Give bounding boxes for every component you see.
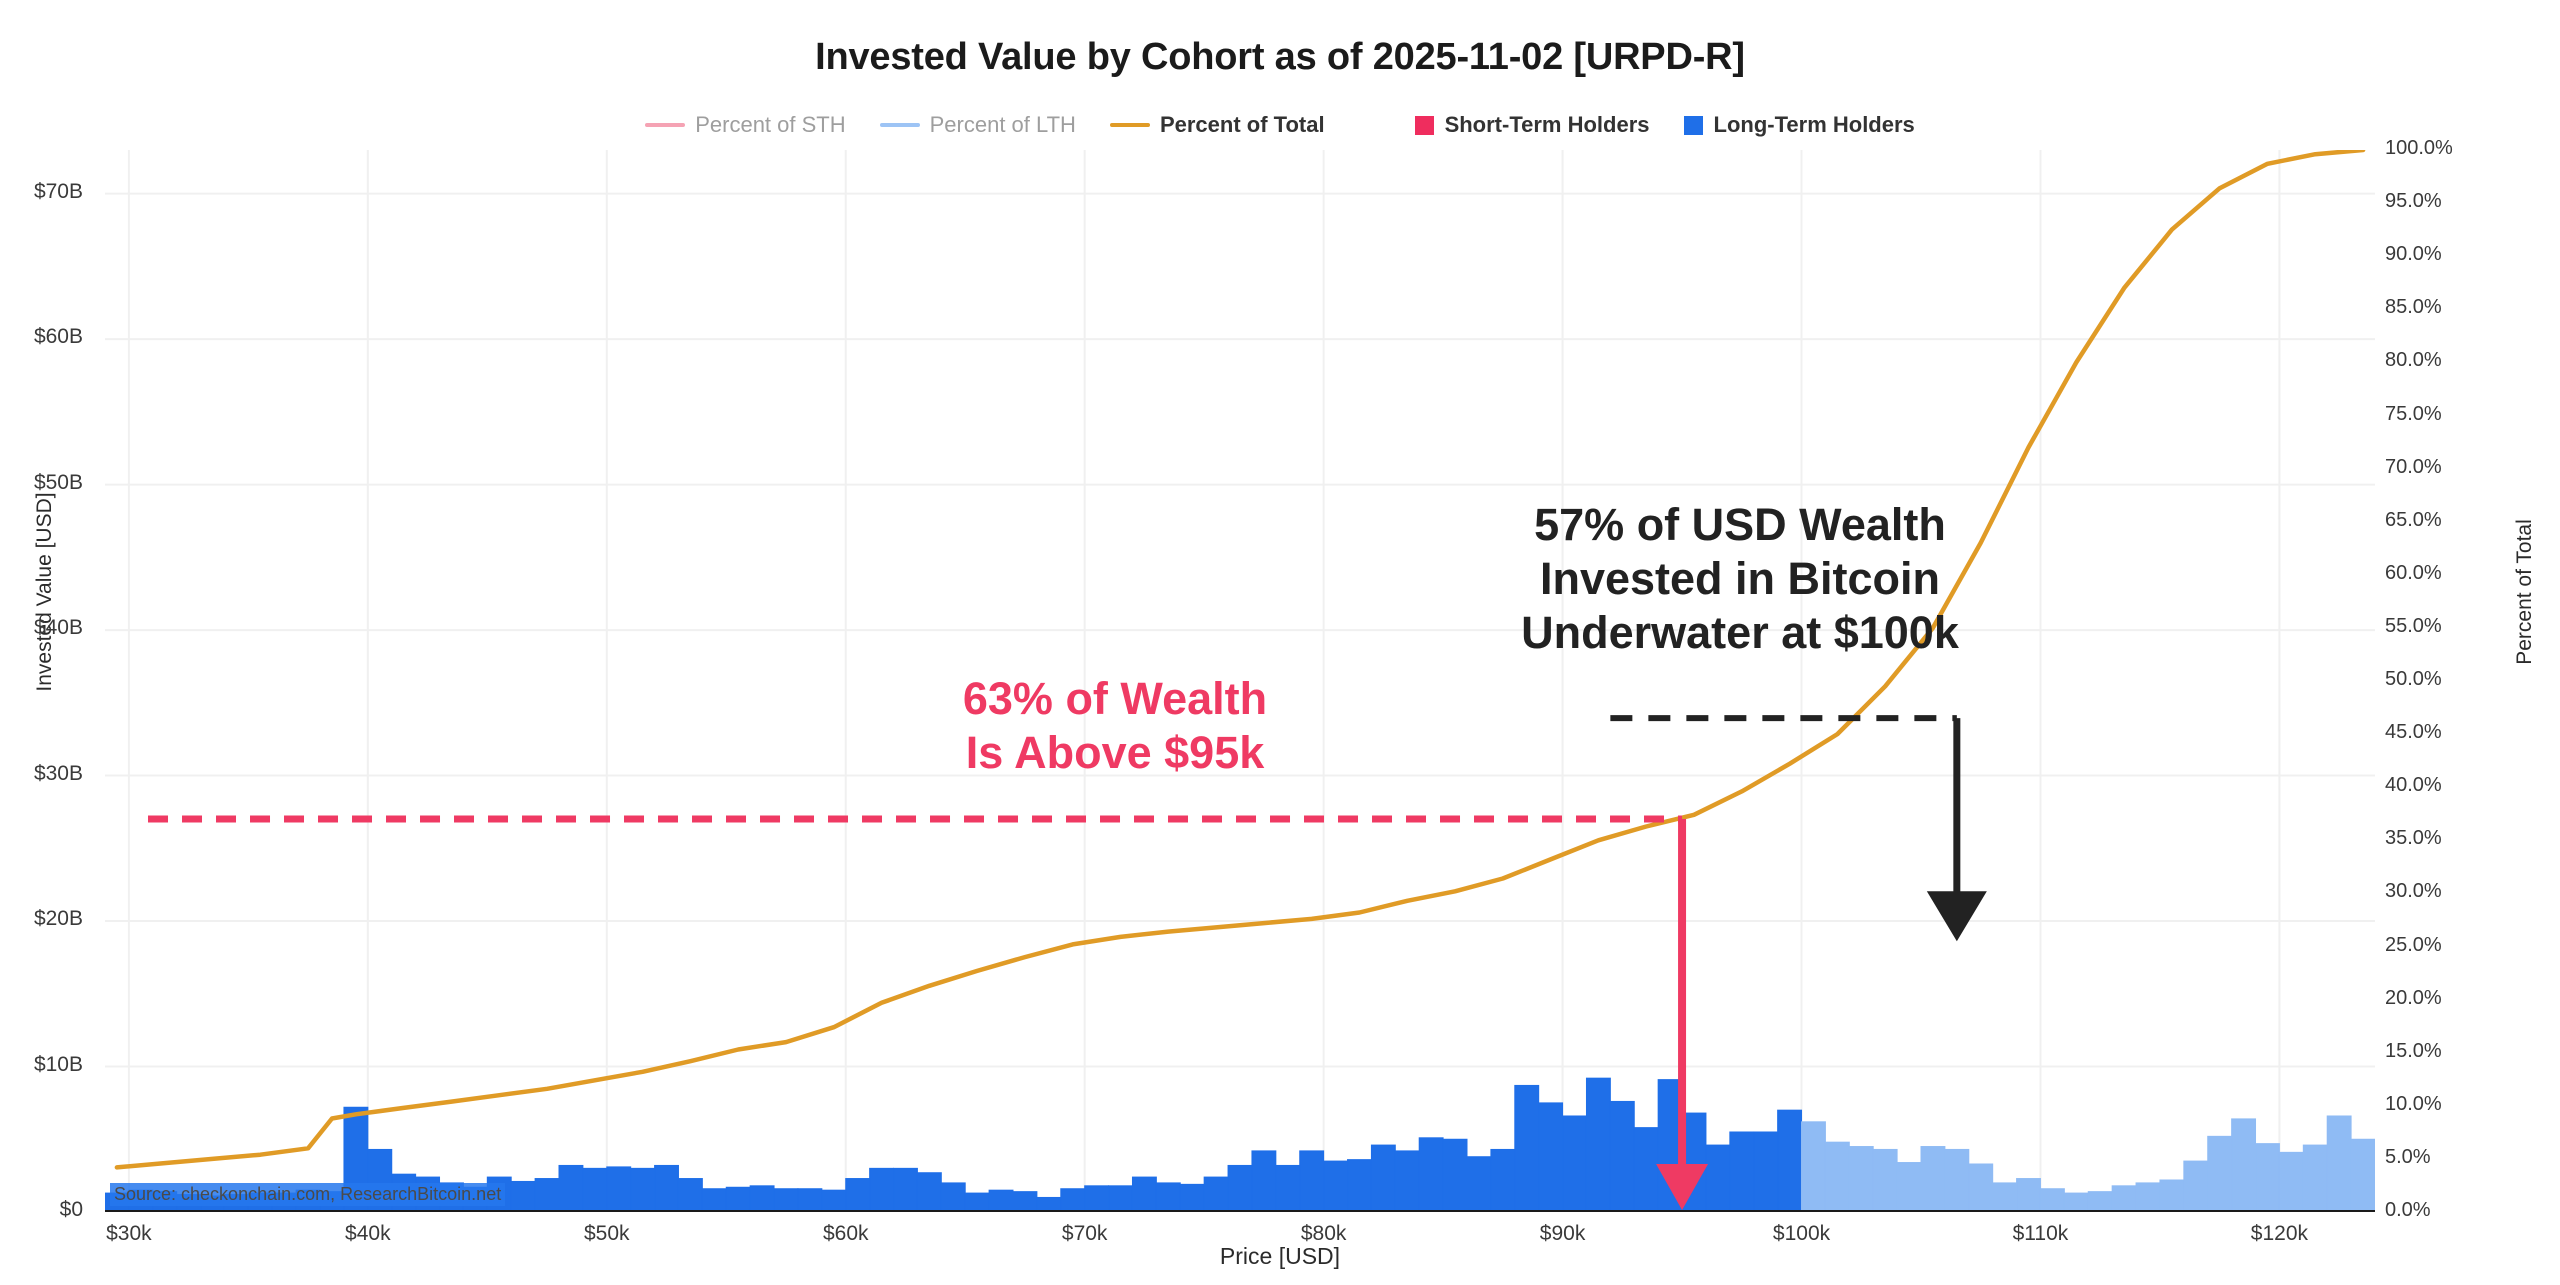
bar-long-term-holders [511,1181,535,1212]
legend-swatch-short-term-holders [1415,116,1434,135]
bar-long-term-holders [1348,1160,1372,1212]
y-tick-right: 85.0% [2385,296,2442,319]
bar-long-term-holders [1156,1183,1180,1212]
x-tick: $30k [106,1222,152,1246]
bar-long-term-holders [2208,1136,2232,1212]
bar-long-term-holders [2279,1152,2303,1212]
annotation-underwater-line-1: 57% of USD Wealth [1430,498,2050,552]
y-tick-right: 15.0% [2385,1040,2442,1063]
bar-long-term-holders [1969,1164,1993,1212]
bar-long-term-holders [989,1190,1013,1212]
legend-item-percent-total[interactable]: Percent of Total [1110,112,1325,138]
bar-long-term-holders [1395,1151,1419,1212]
y-tick-right: 65.0% [2385,509,2442,532]
bar-long-term-holders [2040,1189,2064,1212]
y-tick-right: 35.0% [2385,827,2442,850]
y-axis-label-right: Percent of Total [2513,482,2537,702]
bar-long-term-holders [2112,1186,2136,1212]
bar-long-term-holders [1491,1149,1515,1212]
bar-long-term-holders [1324,1161,1348,1212]
legend-swatch-group: Short-Term Holders Long-Term Holders [1415,112,1915,138]
legend-line-group: Percent of STH Percent of LTH Percent of… [645,112,1324,138]
bar-long-term-holders [631,1168,655,1212]
y-tick-left: $20B [34,907,83,931]
y-tick-left: $0 [60,1198,83,1222]
bar-long-term-holders [1419,1138,1443,1212]
bar-long-term-holders [535,1179,559,1212]
x-tick: $110k [2013,1222,2069,1246]
bar-long-term-holders [2136,1183,2160,1212]
bar-long-term-holders [750,1186,774,1212]
bar-long-term-holders [846,1179,870,1212]
annotation-underwater-line-2: Invested in Bitcoin [1430,552,2050,606]
bar-long-term-holders [1586,1078,1610,1212]
bar-long-term-holders [702,1189,726,1212]
bar-long-term-holders [1132,1177,1156,1212]
source-note: Source: checkonchain.com, ResearchBitcoi… [110,1183,505,1206]
bar-long-term-holders [1563,1116,1587,1212]
x-axis-label: Price [USD] [0,1243,2560,1270]
bar-long-term-holders [1539,1103,1563,1212]
bar-long-term-holders [1061,1189,1085,1212]
y-tick-left: $70B [34,180,83,204]
bar-long-term-holders [1013,1192,1037,1212]
bar-long-term-holders [1706,1145,1730,1212]
y-tick-left: $50B [34,471,83,495]
bar-long-term-holders [607,1167,631,1212]
bar-long-term-holders [1825,1142,1849,1212]
x-tick: $90k [1540,1222,1586,1246]
bar-long-term-holders [1037,1197,1061,1212]
y-tick-left: $10B [34,1053,83,1077]
y-tick-right: 95.0% [2385,190,2442,213]
bar-long-term-holders [1252,1151,1276,1212]
y-tick-left: $60B [34,325,83,349]
bar-long-term-holders [1778,1110,1802,1212]
y-tick-left: $30B [34,762,83,786]
x-tick: $60k [823,1222,869,1246]
bar-long-term-holders [1228,1165,1252,1212]
bar-long-term-holders [2232,1119,2256,1212]
bar-long-term-holders [774,1189,798,1212]
annotation-above-95k-line-1: 63% of Wealth [880,672,1350,726]
bar-long-term-holders [2088,1192,2112,1212]
x-tick: $50k [584,1222,630,1246]
bar-long-term-holders [2064,1193,2088,1212]
bar-long-term-holders [1300,1151,1324,1212]
bar-long-term-holders [798,1189,822,1212]
y-tick-right: 60.0% [2385,562,2442,585]
bar-long-term-holders [2351,1139,2375,1212]
y-tick-right: 20.0% [2385,987,2442,1010]
bar-long-term-holders [2160,1180,2184,1212]
y-tick-right: 100.0% [2385,137,2453,160]
y-tick-right: 45.0% [2385,721,2442,744]
bar-long-term-holders [941,1183,965,1212]
legend-line-swatch-percent-total [1110,123,1150,127]
bar-long-term-holders [2327,1116,2351,1212]
legend-item-short-term-holders[interactable]: Short-Term Holders [1415,112,1650,138]
annotation-underwater: 57% of USD Wealth Invested in Bitcoin Un… [1430,498,2050,660]
bar-long-term-holders [559,1165,583,1212]
legend-item-percent-lth[interactable]: Percent of LTH [880,112,1076,138]
arrow-head-underwater [1927,891,1987,941]
y-tick-right: 90.0% [2385,243,2442,266]
legend-swatch-long-term-holders [1684,116,1703,135]
legend-label-short-term-holders: Short-Term Holders [1445,112,1650,138]
page-title: Invested Value by Cohort as of 2025-11-0… [0,36,2560,79]
bar-long-term-holders [1109,1186,1133,1212]
legend-item-percent-sth[interactable]: Percent of STH [645,112,845,138]
x-tick: $120k [2251,1222,2308,1246]
legend-label-percent-total: Percent of Total [1160,112,1325,138]
y-tick-right: 0.0% [2385,1199,2431,1222]
bar-long-term-holders [1204,1177,1228,1212]
bar-long-term-holders [1849,1147,1873,1212]
y-tick-right: 55.0% [2385,615,2442,638]
legend-label-percent-sth: Percent of STH [695,112,845,138]
bar-long-term-holders [1610,1101,1634,1212]
bar-long-term-holders [2017,1179,2041,1212]
y-tick-right: 10.0% [2385,1093,2442,1116]
y-tick-right: 50.0% [2385,668,2442,691]
annotation-above-95k-line-2: Is Above $95k [880,726,1350,780]
bar-long-term-holders [870,1168,894,1212]
chart-root: Invested Value by Cohort as of 2025-11-0… [0,0,2560,1285]
bar-long-term-holders [1897,1163,1921,1212]
y-tick-right: 75.0% [2385,403,2442,426]
annotation-underwater-line-3: Underwater at $100k [1430,606,2050,660]
bar-long-term-holders [2256,1144,2280,1212]
bar-long-term-holders [894,1168,918,1212]
bar-long-term-holders [655,1165,679,1212]
y-axis-label-left: Invested Value [USD] [33,482,57,702]
bar-long-term-holders [1443,1139,1467,1212]
bar-long-term-holders [1180,1184,1204,1212]
annotation-above-95k: 63% of Wealth Is Above $95k [880,672,1350,780]
legend-item-long-term-holders[interactable]: Long-Term Holders [1684,112,1915,138]
y-tick-left: $40B [34,616,83,640]
legend-line-swatch-percent-lth [880,123,920,127]
y-tick-right: 80.0% [2385,349,2442,372]
bar-long-term-holders [917,1173,941,1212]
bar-long-term-holders [1754,1132,1778,1212]
y-tick-right: 25.0% [2385,934,2442,957]
bar-long-term-holders [1085,1186,1109,1212]
chart-legend: Percent of STH Percent of LTH Percent of… [0,112,2560,138]
bar-long-term-holders [583,1168,607,1212]
bar-long-term-holders [726,1187,750,1212]
bar-long-term-holders [1634,1128,1658,1212]
x-tick: $80k [1301,1222,1347,1246]
bar-long-term-holders [822,1190,846,1212]
x-tick: $100k [1773,1222,1830,1246]
bar-long-term-holders [678,1179,702,1212]
y-tick-right: 40.0% [2385,774,2442,797]
y-tick-right: 30.0% [2385,880,2442,903]
bar-long-term-holders [2303,1145,2327,1212]
bar-long-term-holders [1802,1122,1826,1212]
bar-long-term-holders [1873,1149,1897,1212]
legend-line-swatch-percent-sth [645,123,685,127]
y-tick-right: 70.0% [2385,456,2442,479]
y-tick-right: 5.0% [2385,1146,2431,1169]
bar-long-term-holders [1371,1145,1395,1212]
bar-long-term-holders [2184,1161,2208,1212]
bar-long-term-holders [1515,1085,1539,1212]
bar-long-term-holders [1921,1147,1945,1212]
legend-label-long-term-holders: Long-Term Holders [1714,112,1915,138]
bar-long-term-holders [1993,1183,2017,1212]
bar-long-term-holders [1730,1132,1754,1212]
bar-long-term-holders [1276,1165,1300,1212]
bar-long-term-holders [1945,1149,1969,1212]
legend-label-percent-lth: Percent of LTH [930,112,1076,138]
x-tick: $70k [1062,1222,1108,1246]
x-tick: $40k [345,1222,391,1246]
bar-long-term-holders [965,1193,989,1212]
bar-long-term-holders [1467,1157,1491,1212]
